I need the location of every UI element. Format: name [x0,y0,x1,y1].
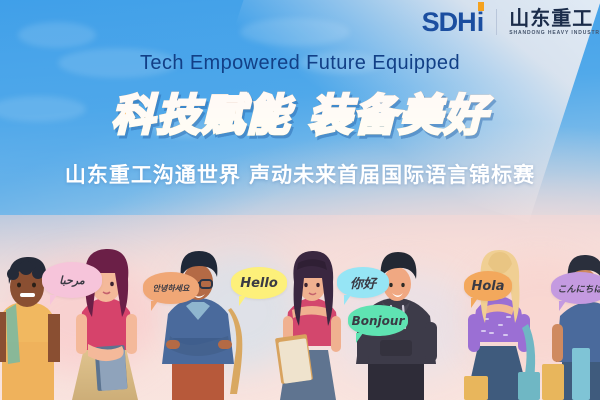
bubble-chinese: 你好 [337,267,389,298]
speech-bubble-text: Hola [471,279,504,294]
event-subtitle: 山东重工沟通世界 声动未来首届国际语言锦标赛 [0,159,600,189]
speech-bubble-text: 안녕하세요 [153,283,190,294]
logo-english-name: SHANDONG HEAVY INDUSTRY [509,30,600,36]
speech-bubble-tail [239,296,246,306]
speech-bubble-text: こんにちは [557,282,600,295]
speech-bubble-text: Hello [240,276,278,291]
logo-i-letter: i [477,9,485,36]
logo-chinese-block: 山东重工 SHANDONG HEAVY INDUSTRY [509,8,600,36]
sdhi-logo[interactable]: SDH i 山东重工 SHANDONG HEAVY INDUSTRY [422,8,600,36]
promotional-banner: SDH i 山东重工 SHANDONG HEAVY INDUSTRY Tech … [0,0,600,400]
headline-block: Tech Empowered Future Equipped 科技赋能 装备美好… [0,52,600,189]
bubble-korean: 안녕하세요 [143,272,199,304]
bubble-arabic: مرحبا [42,262,102,298]
cloud-shape [18,22,96,48]
speech-bubble-tail [356,333,363,343]
bubble-spanish: Hola [464,271,512,301]
speech-bubble-tail [559,301,566,311]
english-tagline: Tech Empowered Future Equipped [0,52,600,75]
logo-chinese-name: 山东重工 [509,8,600,29]
cloud-shape [240,18,350,46]
logo-orange-dot [478,2,484,11]
person-4 [275,251,341,400]
main-title: 科技赋能 装备美好 [0,81,600,143]
speech-bubble-text: Bonjour [352,314,405,328]
speech-bubble-text: 你好 [350,273,376,292]
speech-bubble-tail [344,295,351,305]
people-illustration [0,240,600,400]
speech-bubble-tail [471,298,478,308]
logo-divider [496,9,497,35]
bubble-english: Hello [231,267,287,299]
logo-wordmark: SDH i [422,9,485,36]
speech-bubble-tail [151,301,158,311]
bubble-japanese: こんにちは [551,272,600,304]
speech-bubble-tail [50,295,57,305]
bubble-french: Bonjour [348,305,408,336]
speech-bubble-text: مرحبا [59,274,84,287]
logo-sdh-text: SDH [422,9,476,36]
